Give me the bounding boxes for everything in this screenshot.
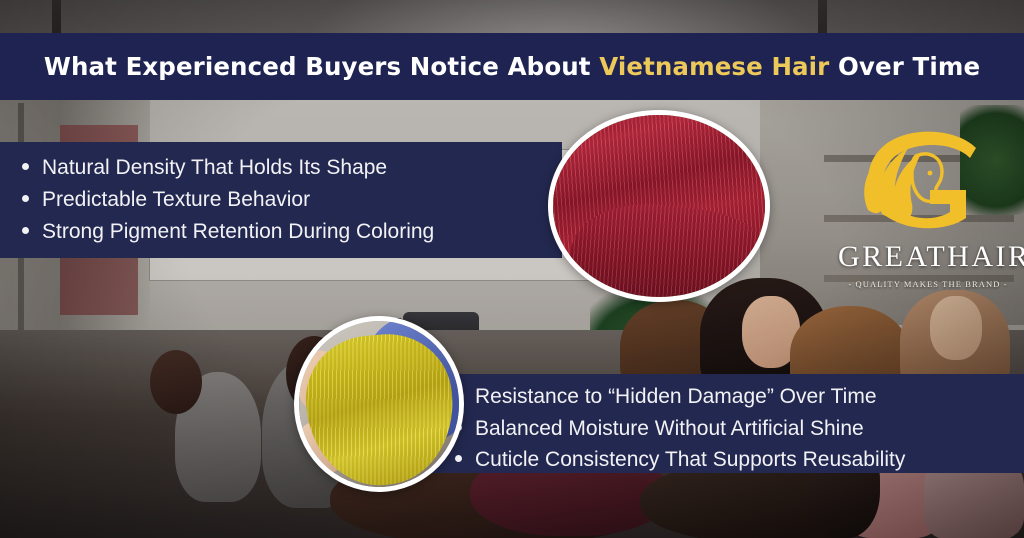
list-item-label: Predictable Texture Behavior [42, 184, 310, 216]
list-item: Balanced Moisture Without Artificial Shi… [455, 413, 1024, 445]
list-item-label: Resistance to “Hidden Damage” Over Time [475, 381, 877, 413]
list-item-label: Strong Pigment Retention During Coloring [42, 216, 434, 248]
list-item: Cuticle Consistency That Supports Reusab… [455, 444, 1024, 476]
benefit-list-right: Resistance to “Hidden Damage” Over Time … [455, 381, 1024, 476]
list-item-label: Natural Density That Holds Its Shape [42, 152, 387, 184]
photo-circle-red-hair [548, 110, 770, 302]
greathair-logo-icon [838, 118, 1018, 246]
list-item-label: Cuticle Consistency That Supports Reusab… [475, 444, 905, 476]
infographic-canvas: GREAT HAIR IMPORT EXPORT JOINT STOCK COM… [0, 0, 1024, 538]
bullet-dot-icon [22, 227, 29, 234]
title-part-before: What Experienced Buyers Notice About [44, 52, 599, 81]
title-accent: Vietnamese Hair [599, 52, 829, 81]
list-item: Predictable Texture Behavior [22, 184, 562, 216]
list-item: Resistance to “Hidden Damage” Over Time [455, 381, 1024, 413]
list-item: Natural Density That Holds Its Shape [22, 152, 562, 184]
title-part-after: Over Time [829, 52, 980, 81]
photo-circle-yellow-hair [294, 316, 464, 492]
bullet-dot-icon [22, 163, 29, 170]
list-item: Strong Pigment Retention During Coloring [22, 216, 562, 248]
benefit-list-left: Natural Density That Holds Its Shape Pre… [22, 152, 562, 248]
benefits-panel-right: Resistance to “Hidden Damage” Over Time … [410, 374, 1024, 473]
brand-logo: GREATHAIR - QUALITY MAKES THE BRAND - [838, 118, 1018, 298]
list-item-label: Balanced Moisture Without Artificial Shi… [475, 413, 864, 445]
benefits-panel-left: Natural Density That Holds Its Shape Pre… [0, 142, 562, 258]
logo-wordmark: GREATHAIR [838, 242, 1018, 272]
logo-tagline: - QUALITY MAKES THE BRAND - [838, 279, 1018, 289]
page-title: What Experienced Buyers Notice About Vie… [44, 52, 980, 81]
header-band: What Experienced Buyers Notice About Vie… [0, 33, 1024, 100]
bullet-dot-icon [22, 195, 29, 202]
